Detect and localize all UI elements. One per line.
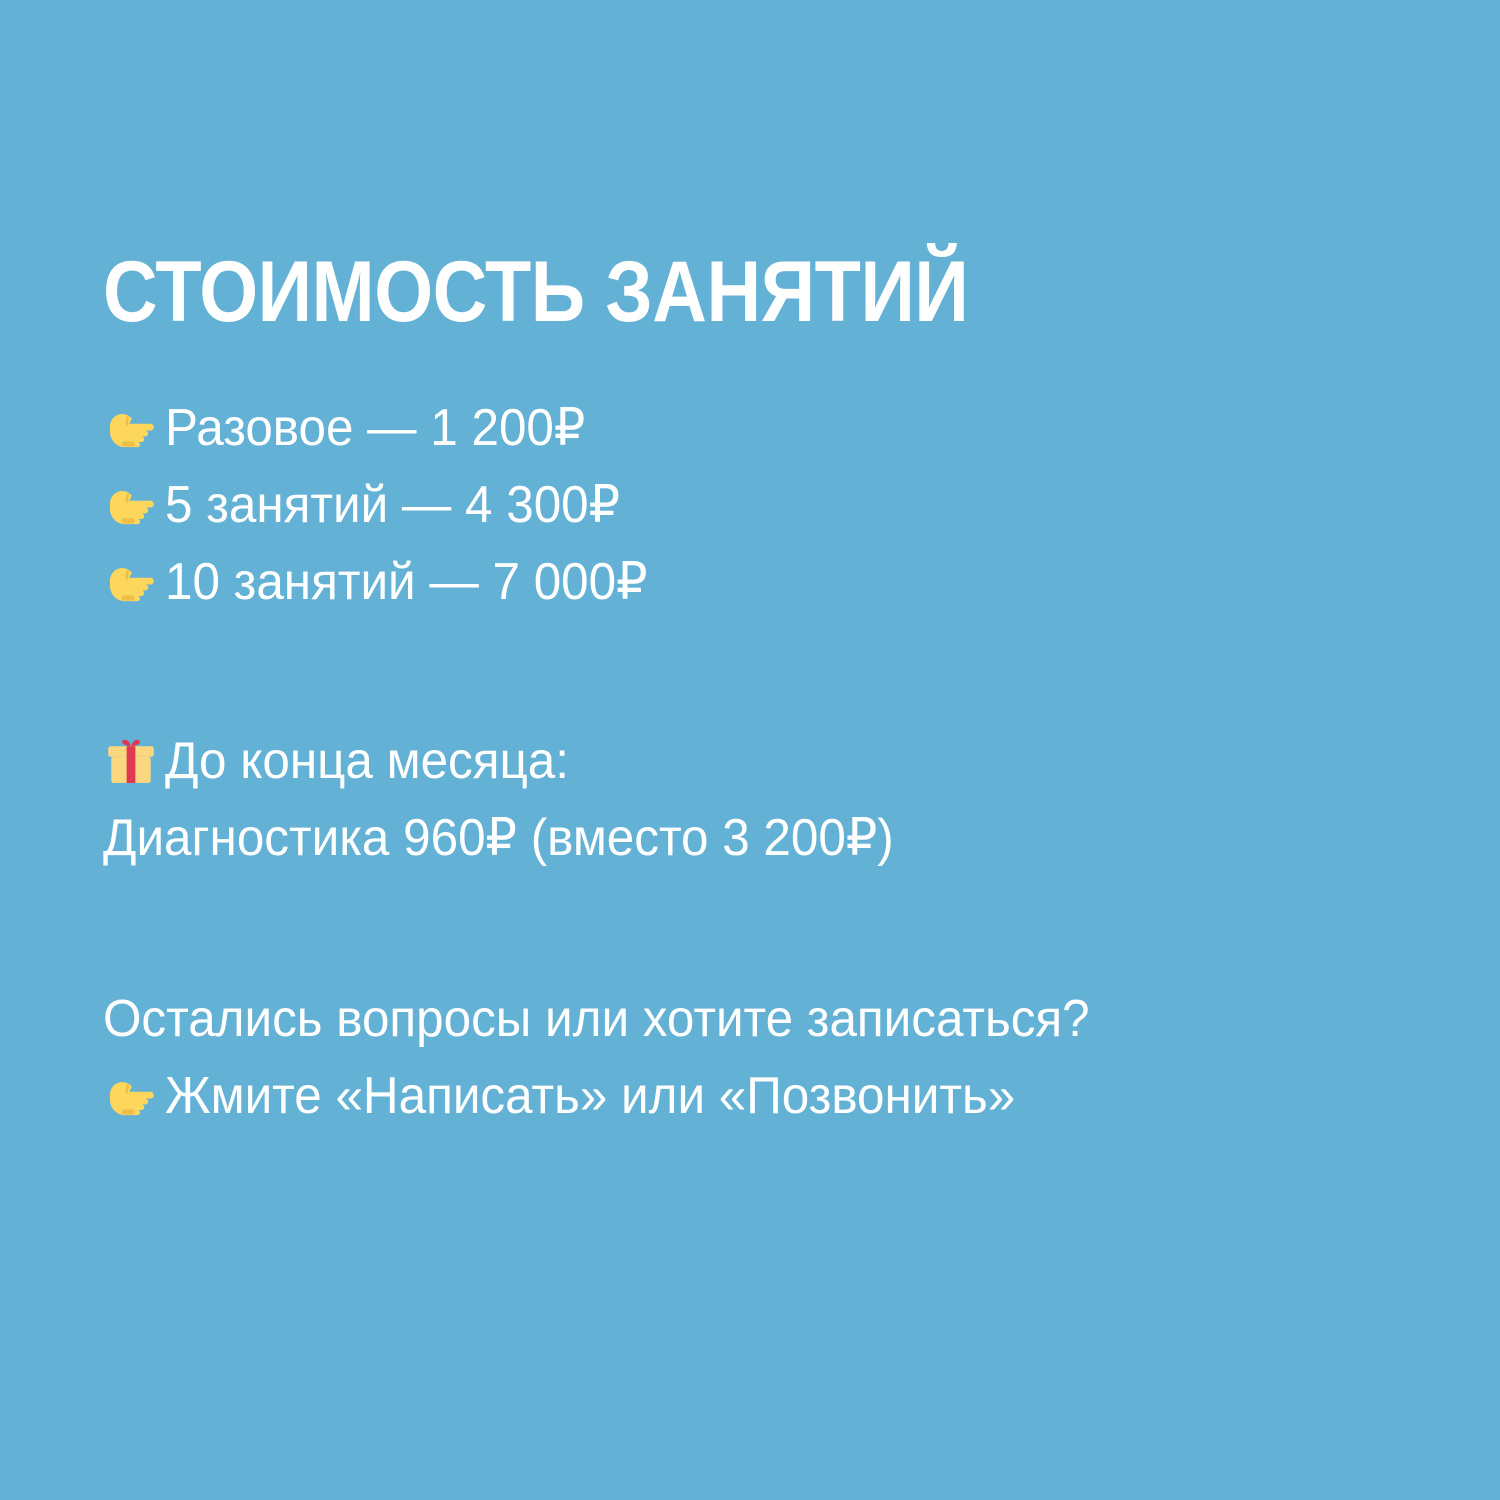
pointing-right-hand-icon: [103, 555, 159, 611]
promo-heading-row: До конца месяца:: [103, 731, 1433, 808]
pricing-slide: СТОИМОСТЬ ЗАНЯТИЙ Разовое — 1 200₽: [0, 0, 1500, 1500]
price-list: Разовое — 1 200₽ 5 занятий — 4 300₽: [103, 398, 1433, 629]
price-item-single: Разовое — 1 200₽: [103, 398, 1433, 475]
contact-cta-row[interactable]: Жмите «Написать» или «Позвонить»: [103, 1066, 1433, 1143]
pointing-right-hand-icon: [103, 401, 159, 457]
pointing-right-hand-icon: [103, 478, 159, 534]
price-item-label: 10 занятий — 7 000₽: [165, 552, 648, 612]
price-item-five: 5 занятий — 4 300₽: [103, 475, 1433, 552]
page-title: СТОИМОСТЬ ЗАНЯТИЙ: [103, 244, 968, 340]
gift-icon: [103, 734, 159, 790]
contact-question-label: Остались вопросы или хотите записаться?: [103, 989, 1090, 1049]
promo-detail-label: Диагностика 960₽ (вместо 3 200₽): [103, 808, 894, 868]
price-item-label: 5 занятий — 4 300₽: [165, 475, 620, 535]
promo-detail-row: Диагностика 960₽ (вместо 3 200₽): [103, 808, 1433, 885]
promo-block: До конца месяца: Диагностика 960₽ (вмест…: [103, 731, 1433, 885]
slide-body: Разовое — 1 200₽ 5 занятий — 4 300₽: [103, 398, 1433, 1143]
promo-heading-label: До конца месяца:: [165, 731, 569, 791]
contact-block: Остались вопросы или хотите записаться? …: [103, 989, 1433, 1143]
price-item-label: Разовое — 1 200₽: [165, 398, 585, 458]
contact-question-row: Остались вопросы или хотите записаться?: [103, 989, 1433, 1066]
pointing-right-hand-icon: [103, 1069, 159, 1125]
price-item-ten: 10 занятий — 7 000₽: [103, 552, 1433, 629]
contact-cta-label: Жмите «Написать» или «Позвонить»: [165, 1066, 1015, 1126]
